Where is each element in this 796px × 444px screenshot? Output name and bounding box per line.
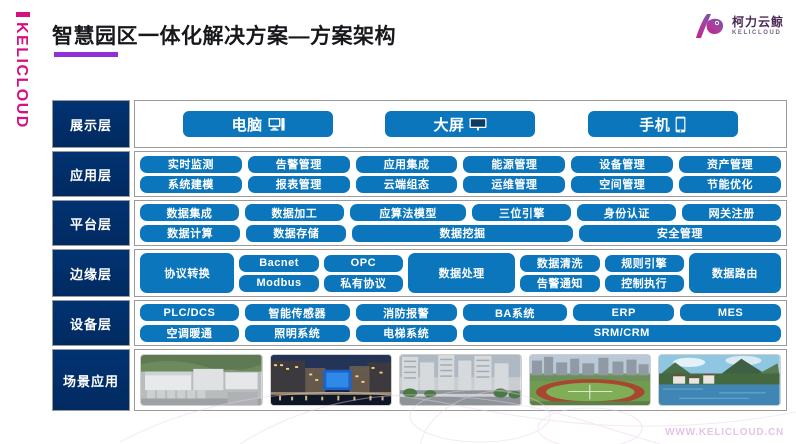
- campus-stadium-photo[interactable]: [529, 354, 652, 406]
- layer-row-application: 应用层 实时监测 系统建模 告警管理 报表管理 应用集成 云端组态 能源管理 运…: [52, 151, 787, 197]
- node-data-routing[interactable]: 数据路由: [689, 253, 781, 293]
- node-realtime-monitor[interactable]: 实时监测: [140, 156, 242, 173]
- edge-stack-opc-private: OPC 私有协议: [324, 255, 403, 292]
- node-mes[interactable]: MES: [680, 304, 781, 321]
- node-gateway-registration[interactable]: 网关注册: [682, 204, 781, 221]
- app-column-4: 能源管理 运维管理: [463, 155, 565, 193]
- node-cloud-scada[interactable]: 云端组态: [356, 176, 458, 193]
- app-column-6: 资产管理 节能优化: [679, 155, 781, 193]
- node-alarm-management[interactable]: 告警管理: [248, 156, 350, 173]
- node-srm-crm[interactable]: SRM/CRM: [463, 325, 781, 342]
- app-column-1: 实时监测 系统建模: [140, 155, 242, 193]
- edge-stack-cleaning-alarm: 数据清洗 告警通知: [520, 255, 599, 292]
- app-column-3: 应用集成 云端组态: [356, 155, 458, 193]
- layer-label-scenario: 场景应用: [52, 349, 130, 411]
- app-column-5: 设备管理 空间管理: [571, 155, 673, 193]
- node-fire-alarm[interactable]: 消防报警: [356, 304, 457, 321]
- node-modbus[interactable]: Modbus: [239, 275, 318, 292]
- layer-row-device: 设备层 PLC/DCS 智能传感器 消防报警 BA系统 ERP MES 空调暖通…: [52, 300, 787, 346]
- node-data-processing-edge[interactable]: 数据处理: [408, 253, 515, 293]
- node-energy-management[interactable]: 能源管理: [463, 156, 565, 173]
- layer-label-application: 应用层: [52, 151, 130, 197]
- node-large-screen-label: 大屏: [433, 114, 464, 135]
- layer-row-scenario: 场景应用: [52, 349, 787, 411]
- node-elevator-system[interactable]: 电梯系统: [356, 325, 457, 342]
- node-smart-sensor[interactable]: 智能传感器: [245, 304, 350, 321]
- node-energy-optimization[interactable]: 节能优化: [679, 176, 781, 193]
- layer-row-display: 展示层 电脑 大屏 手机: [52, 100, 787, 148]
- node-control-execution[interactable]: 控制执行: [605, 275, 684, 292]
- node-space-management[interactable]: 空间管理: [571, 176, 673, 193]
- large-screen-icon: [469, 117, 487, 131]
- node-private-protocol[interactable]: 私有协议: [324, 275, 403, 292]
- node-alarm-notification[interactable]: 告警通知: [520, 275, 599, 292]
- layer-body-edge: 协议转换 Bacnet Modbus OPC 私有协议 数据处理 数据清洗 告警…: [134, 249, 787, 297]
- layer-row-platform: 平台层 数据集成 数据加工 应算法模型 三位引擎 身份认证 网关注册 数据计算 …: [52, 200, 787, 246]
- app-column-2: 告警管理 报表管理: [248, 155, 350, 193]
- layer-label-platform: 平台层: [52, 200, 130, 246]
- node-desktop-label: 电脑: [232, 114, 263, 135]
- layer-body-display: 电脑 大屏 手机: [134, 100, 787, 148]
- node-data-computing[interactable]: 数据计算: [140, 225, 240, 242]
- node-erp[interactable]: ERP: [573, 304, 674, 321]
- node-report-management[interactable]: 报表管理: [248, 176, 350, 193]
- company-name-cn: 柯力云鲸: [732, 16, 784, 28]
- node-opc[interactable]: OPC: [324, 255, 403, 272]
- desktop-monitor-icon: [268, 117, 285, 132]
- node-data-mining[interactable]: 数据挖掘: [352, 225, 572, 242]
- layer-row-edge: 边缘层 协议转换 Bacnet Modbus OPC 私有协议 数据处理 数据清…: [52, 249, 787, 297]
- layer-body-device: PLC/DCS 智能传感器 消防报警 BA系统 ERP MES 空调暖通 照明系…: [134, 300, 787, 346]
- brand-vertical-wordmark: KELICLOUD: [8, 22, 34, 222]
- mountain-resort-photo[interactable]: [658, 354, 781, 406]
- layer-body-scenario: [134, 349, 787, 411]
- node-protocol-conversion[interactable]: 协议转换: [140, 253, 234, 293]
- layer-body-platform: 数据集成 数据加工 应算法模型 三位引擎 身份认证 网关注册 数据计算 数据存储…: [134, 200, 787, 246]
- brand-rail-text: KELICLOUD: [8, 22, 34, 129]
- node-3d-engine[interactable]: 三位引擎: [472, 204, 571, 221]
- company-logo: 柯力云鲸 KELICLOUD: [692, 12, 784, 40]
- layer-label-display: 展示层: [52, 100, 130, 148]
- node-system-modeling[interactable]: 系统建模: [140, 176, 242, 193]
- node-large-screen[interactable]: 大屏: [385, 111, 535, 137]
- title-underline-accent: [54, 52, 118, 57]
- edge-stack-rule-control: 规则引擎 控制执行: [605, 255, 684, 292]
- brand-rail: KELICLOUD: [0, 0, 34, 444]
- node-asset-management[interactable]: 资产管理: [679, 156, 781, 173]
- node-ops-management[interactable]: 运维管理: [463, 176, 565, 193]
- smartphone-icon: [675, 116, 686, 133]
- company-logo-text: 柯力云鲸 KELICLOUD: [732, 16, 784, 36]
- company-name-en: KELICLOUD: [732, 30, 784, 36]
- layer-body-application: 实时监测 系统建模 告警管理 报表管理 应用集成 云端组态 能源管理 运维管理 …: [134, 151, 787, 197]
- node-plc-dcs[interactable]: PLC/DCS: [140, 304, 239, 321]
- kelicloud-whale-icon: [692, 12, 726, 40]
- node-security-management[interactable]: 安全管理: [579, 225, 781, 242]
- node-identity-auth[interactable]: 身份认证: [577, 204, 676, 221]
- edge-stack-bacnet-modbus: Bacnet Modbus: [239, 255, 318, 292]
- commercial-complex-photo[interactable]: [270, 354, 393, 406]
- node-app-integration[interactable]: 应用集成: [356, 156, 458, 173]
- node-bacnet[interactable]: Bacnet: [239, 255, 318, 272]
- industrial-park-photo[interactable]: [140, 354, 263, 406]
- node-data-cleaning[interactable]: 数据清洗: [520, 255, 599, 272]
- architecture-diagram: 展示层 电脑 大屏 手机 应用层: [52, 100, 787, 420]
- node-desktop[interactable]: 电脑: [183, 111, 333, 137]
- node-hvac[interactable]: 空调暖通: [140, 325, 239, 342]
- layer-label-device: 设备层: [52, 300, 130, 346]
- node-data-processing-platform[interactable]: 数据加工: [245, 204, 344, 221]
- node-data-integration[interactable]: 数据集成: [140, 204, 239, 221]
- node-algorithm-model[interactable]: 应算法模型: [350, 204, 467, 221]
- node-mobile-label: 手机: [639, 114, 670, 135]
- page-title: 智慧园区一体化解决方案—方案架构: [52, 20, 396, 50]
- node-device-management[interactable]: 设备管理: [571, 156, 673, 173]
- residential-district-photo[interactable]: [399, 354, 522, 406]
- node-lighting-system[interactable]: 照明系统: [245, 325, 350, 342]
- footer-website-url: WWW.KELICLOUD.CN: [665, 427, 784, 438]
- node-ba-system[interactable]: BA系统: [463, 304, 568, 321]
- node-data-storage[interactable]: 数据存储: [246, 225, 346, 242]
- brand-tick-mark: [16, 12, 30, 17]
- node-rule-engine[interactable]: 规则引擎: [605, 255, 684, 272]
- node-mobile[interactable]: 手机: [588, 111, 738, 137]
- layer-label-edge: 边缘层: [52, 249, 130, 297]
